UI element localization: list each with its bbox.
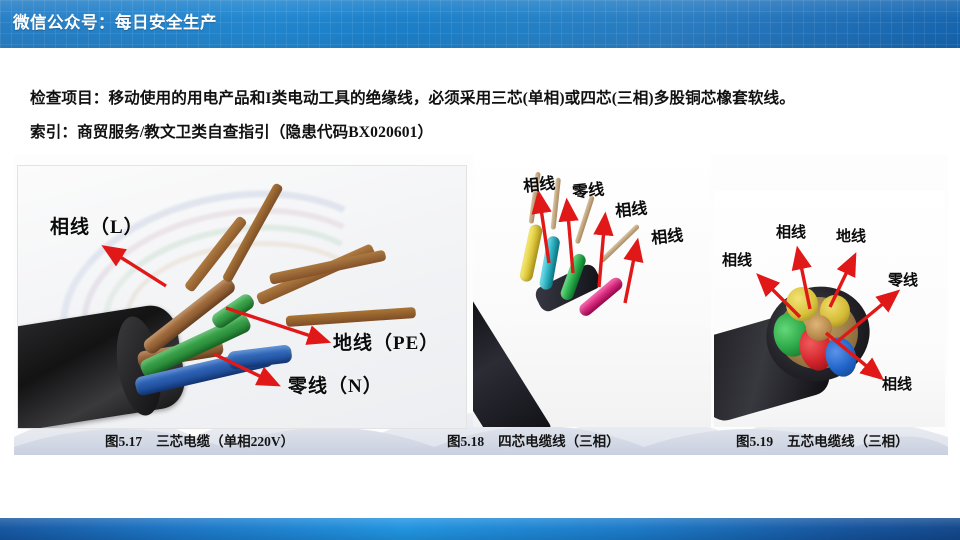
index-reference-line: 索引：商贸服务/教文卫类自查指引（隐患代码BX020601） <box>30 120 433 142</box>
label-phase-1: 相线 <box>522 169 556 196</box>
label-phase-3: 相线 <box>650 221 684 248</box>
label-phase-top: 相线 <box>776 221 806 242</box>
figure-number: 图5.18 <box>447 434 484 449</box>
slide-root: 微信公众号：每日安全生产 检查项目：移动使用的用电产品和I类电动工具的绝缘线，必… <box>0 0 960 540</box>
footer-bar <box>0 518 960 540</box>
footer-sheen <box>0 518 960 540</box>
label-neutral: 零线 <box>888 269 918 290</box>
figure-image-5-18: 相线 零线 相线 相线 <box>473 155 711 427</box>
figure-caption-5-19: 图5.19五芯电缆线（三相） <box>736 430 909 450</box>
figure-caption-5-18: 图5.18四芯电缆线（三相） <box>447 430 620 450</box>
page-title: 微信公众号：每日安全生产 <box>13 9 217 33</box>
figure-number: 图5.17 <box>105 434 142 449</box>
figure-image-5-17: 相线（L） 地线（PE） 零线（N） <box>17 165 467 429</box>
figure-title: 三芯电缆（单相220V） <box>156 434 294 449</box>
photo-four-core-cable: 相线 零线 相线 相线 <box>473 155 711 427</box>
label-phase-bottom: 相线 <box>882 373 912 394</box>
label-earth: 地线 <box>836 225 866 246</box>
figure-strip: 相线（L） 地线（PE） 零线（N） <box>14 155 948 455</box>
header-bar: 微信公众号：每日安全生产 <box>0 0 960 48</box>
figure-title: 五芯电缆线（三相） <box>787 434 909 449</box>
label-neutral-N: 零线（N） <box>288 371 383 398</box>
photo-three-core-cable: 相线（L） 地线（PE） 零线（N） <box>18 166 466 428</box>
figure-image-5-19: 相线 相线 地线 零线 相线 <box>714 191 945 427</box>
figure-caption-5-17: 图5.17三芯电缆（单相220V） <box>105 430 294 450</box>
core-copper-center <box>806 315 832 341</box>
label-phase-L: 相线（L） <box>50 212 144 239</box>
figure-title: 四芯电缆线（三相） <box>498 434 620 449</box>
figure-number: 图5.19 <box>736 434 773 449</box>
label-phase-left: 相线 <box>722 249 752 270</box>
photo-five-core-cable: 相线 相线 地线 零线 相线 <box>714 191 945 427</box>
label-earth-PE: 地线（PE） <box>333 328 439 355</box>
inspection-item-line: 检查项目：移动使用的用电产品和I类电动工具的绝缘线，必须采用三芯(单相)或四芯(… <box>30 86 795 108</box>
label-phase-2: 相线 <box>614 194 648 221</box>
label-neutral: 零线 <box>571 175 605 202</box>
